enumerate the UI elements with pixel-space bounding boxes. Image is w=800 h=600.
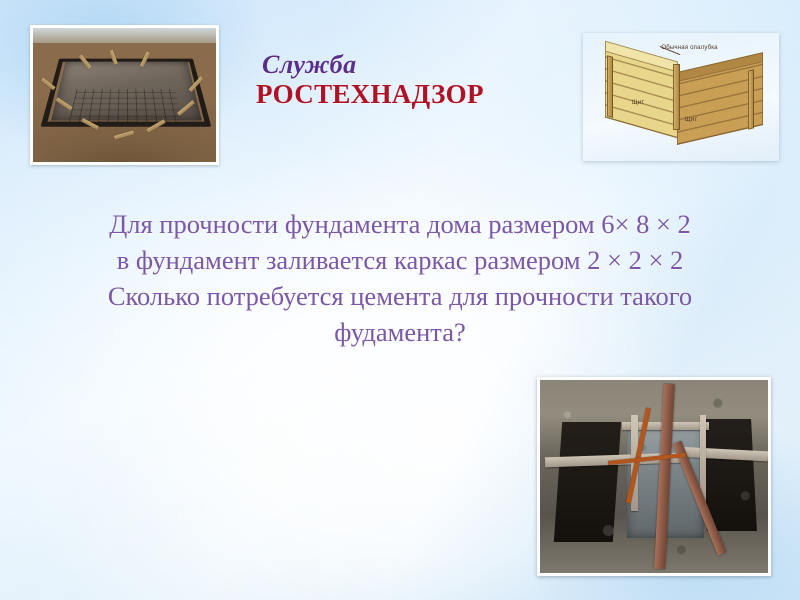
formwork-post-corner bbox=[673, 64, 680, 131]
problem-text: Для прочности фундамента дома размером 6… bbox=[36, 206, 764, 350]
diagram-label-shit-right: Щит bbox=[685, 117, 697, 123]
foundation-formwork-photo-content bbox=[33, 28, 216, 162]
title-block: Служба РОСТЕХНАДЗОР bbox=[256, 52, 556, 108]
diagram-label-opalubka: Обычная опалубка bbox=[661, 45, 717, 51]
formwork-post-left bbox=[607, 55, 613, 118]
presentation-slide: Служба РОСТЕХНАДЗОР Обычная опалубка Щит… bbox=[0, 0, 800, 600]
problem-text-line-4: фудамента? bbox=[36, 314, 764, 350]
formwork-diagram-content: Обычная опалубка Щит Щит bbox=[583, 33, 779, 161]
problem-text-line-2: в фундамент заливается каркас размером 2… bbox=[36, 242, 764, 278]
diagram-label-shit-left: Щит bbox=[632, 100, 644, 106]
soil-texture bbox=[540, 380, 768, 573]
title-service-label: Служба bbox=[262, 52, 556, 78]
foundation-formwork-photo bbox=[30, 25, 219, 165]
problem-text-line-1: Для прочности фундамента дома размером 6… bbox=[36, 206, 764, 242]
formwork-diagram: Обычная опалубка Щит Щит bbox=[583, 33, 779, 161]
trench-formwork-photo bbox=[537, 377, 771, 576]
formwork-post-right bbox=[748, 69, 754, 129]
trench-formwork-photo-content bbox=[540, 380, 768, 573]
title-rostechnadzor: РОСТЕХНАДЗОР bbox=[256, 81, 556, 108]
horizon-strip bbox=[33, 28, 216, 43]
problem-text-line-3: Сколько потребуется цемента для прочност… bbox=[36, 278, 764, 314]
rebar-mesh bbox=[69, 89, 184, 123]
